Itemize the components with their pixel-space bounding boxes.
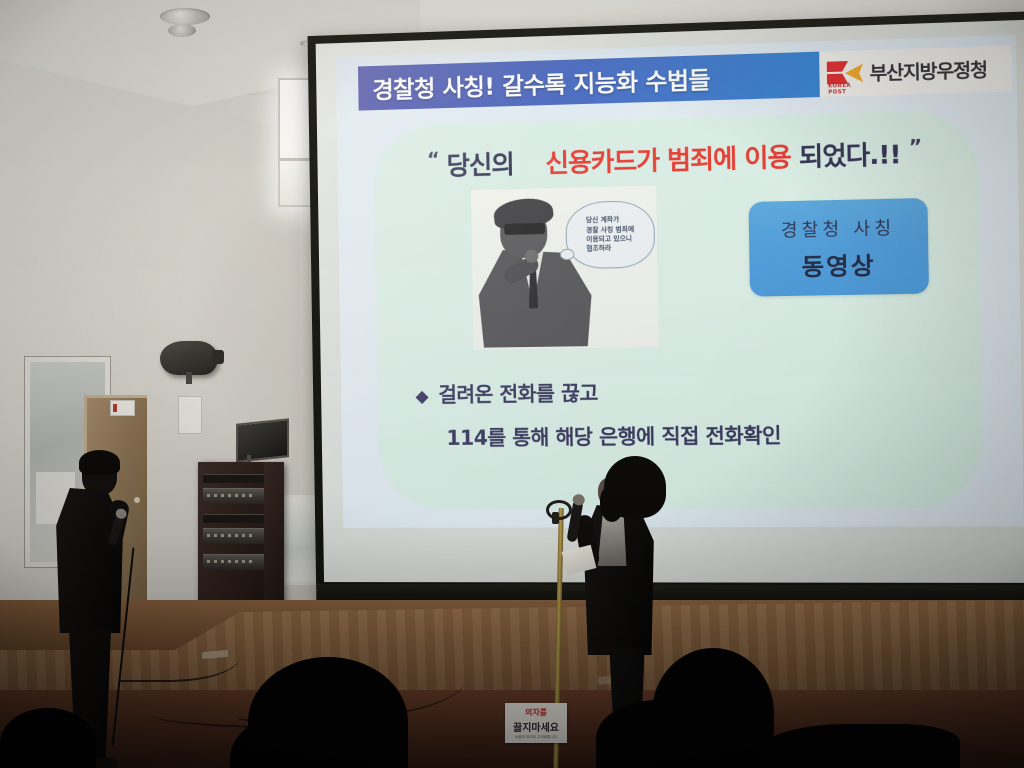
video-button-line1: 경찰청 사칭 — [781, 213, 896, 241]
door-knob-icon[interactable] — [134, 497, 140, 503]
cartoon-illustration: 당신 계좌가 경찰 사칭 범죄에 이용되고 있으니 협조하라 — [471, 186, 659, 350]
slide-content-box: “ 당신의 신용카드가 범죄에 이용 되었다.!! ” — [373, 109, 984, 510]
korea-post-mark-text: KOREA POST — [828, 82, 863, 95]
wall-mounted-speaker-icon — [160, 341, 218, 375]
sunglasses-icon — [504, 223, 545, 235]
microphone-stand-holder — [552, 512, 559, 524]
korea-post-logo: KOREA POST 부산지방우정청 — [819, 45, 1012, 97]
video-link-button[interactable]: 경찰청 사칭 동영상 — [749, 198, 929, 297]
ceiling-speaker-grille-icon — [168, 24, 196, 37]
bullet-text-1: 걸려온 전화를 끊고 — [438, 381, 598, 407]
wall-panel-box — [178, 396, 202, 434]
rack-unit-mixer — [203, 528, 265, 544]
male-presenter-hair — [79, 450, 120, 475]
audience-head — [760, 724, 960, 768]
headline-part-1: 당신의 — [446, 150, 514, 181]
speech-bubble: 당신 계좌가 경찰 사칭 범죄에 이용되고 있으니 협조하라 — [565, 200, 655, 269]
close-quote: ” — [909, 135, 922, 158]
audience-head — [596, 700, 726, 768]
stage-notice-sign: 의자를 끌지마세요 소음이 되므로 주의바랍니다 — [505, 703, 567, 743]
slide-title-bar: 경찰청 사칭! 갈수록 지능화 수법들 KOREA POST 부산지방우정청 — [358, 46, 993, 111]
sign-line-3: 소음이 되므로 주의바랍니다 — [515, 735, 557, 740]
speaker-bracket — [186, 372, 192, 384]
female-presenter-hair-front — [600, 486, 624, 522]
av-equipment-rack — [198, 462, 284, 622]
rack-monitor-icon — [236, 418, 289, 463]
sign-line-1: 의자를 — [525, 707, 547, 718]
rack-shelf — [203, 474, 265, 483]
rack-unit-amp — [203, 488, 265, 504]
bullet-item-2: 114를 통해 해당 은행에 직접 전화확인 — [416, 417, 960, 451]
video-button-line2: 동영상 — [801, 245, 876, 282]
microphone-stand-clip-icon — [546, 500, 572, 520]
diamond-bullet-icon: ◆ — [415, 387, 428, 407]
speech-bubble-text: 당신 계좌가 경찰 사칭 범죄에 이용되고 있으니 협조하라 — [586, 215, 635, 254]
bullet-item-1: ◆걸려온 전화를 끊고 — [415, 372, 959, 408]
korea-post-mark-icon: KOREA POST — [827, 60, 864, 88]
projection-screen-frame: 경찰청 사칭! 갈수록 지능화 수법들 KOREA POST 부산지방우정청 “… — [308, 11, 1024, 608]
slide-bullets: ◆걸려온 전화를 끊고 114를 통해 해당 은행에 직접 전화확인 — [415, 372, 959, 451]
exit-sign-icon — [110, 400, 135, 416]
headline-part-red: 신용카드가 범죄에 이용 — [545, 142, 791, 178]
presentation-photo-scene: 경찰청 사칭! 갈수록 지능화 수법들 KOREA POST 부산지방우정청 “… — [0, 0, 1024, 768]
slide-headline: “ 당신의 신용카드가 범죄에 이용 되었다.!! ” — [373, 132, 979, 184]
rack-shelf-2 — [203, 514, 265, 523]
ceiling-downlight-icon — [160, 8, 210, 25]
slide-title: 경찰청 사칭! 갈수록 지능화 수법들 — [358, 60, 710, 105]
organization-name: 부산지방우정청 — [869, 56, 987, 87]
rack-side-panel — [264, 462, 284, 622]
headline-part-2: 되었다.!! — [799, 139, 901, 172]
sign-line-2: 끌지마세요 — [513, 719, 559, 734]
rack-unit-eq — [203, 554, 265, 570]
open-quote: “ — [427, 148, 439, 170]
slide: 경찰청 사칭! 갈수록 지능화 수법들 KOREA POST 부산지방우정청 “… — [336, 35, 1024, 528]
projection-screen: 경찰청 사칭! 갈수록 지능화 수법들 KOREA POST 부산지방우정청 “… — [316, 20, 1024, 583]
